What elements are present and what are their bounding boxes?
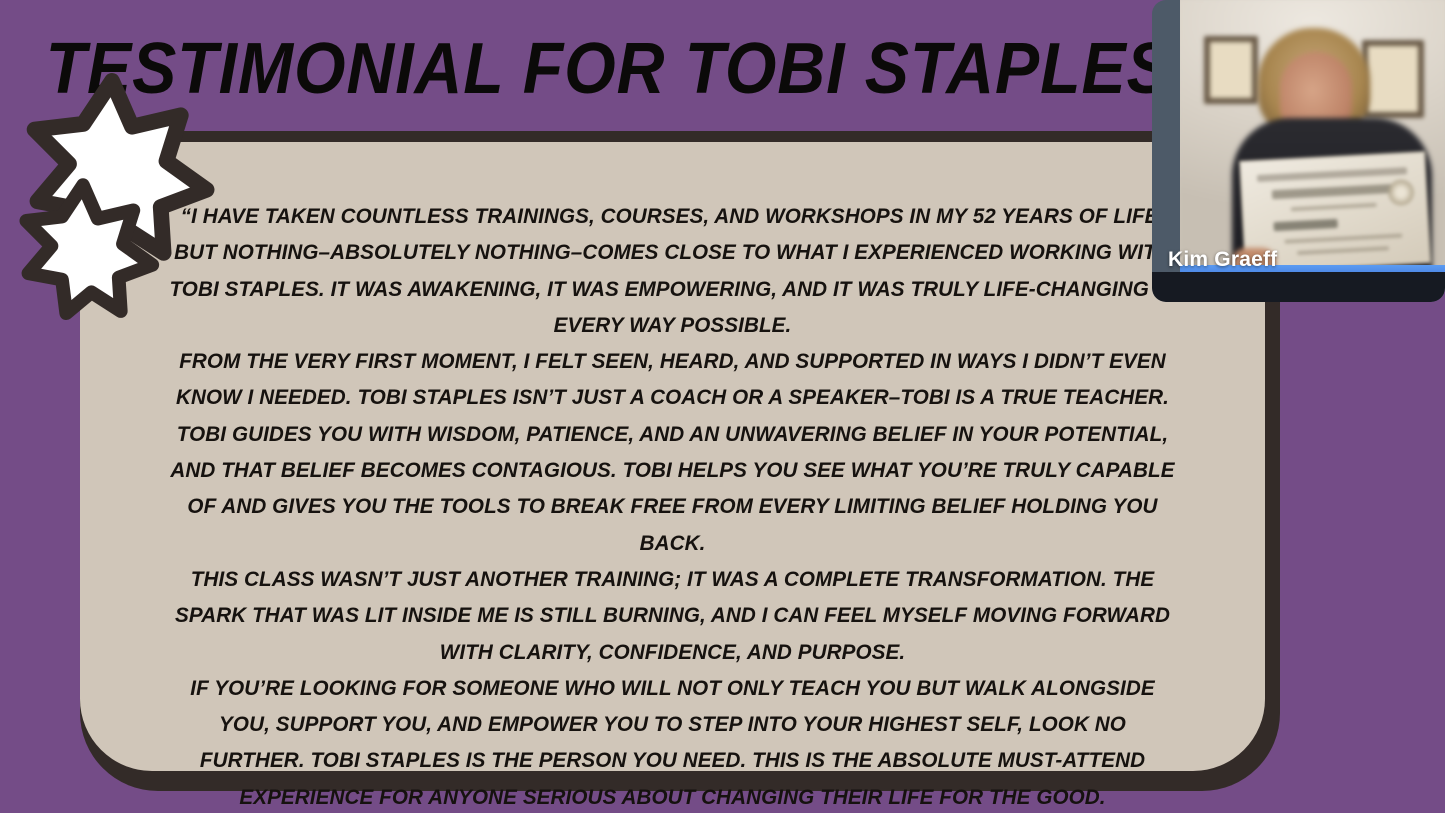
video-feed [1180,0,1445,272]
testimonial-card: “I HAVE TAKEN COUNTLESS TRAININGS, COURS… [80,131,1265,771]
star-small-icon [20,182,146,310]
testimonial-paragraph: FROM THE VERY FIRST MOMENT, I FELT SEEN,… [167,343,1178,561]
testimonial-paragraph: “I HAVE TAKEN COUNTLESS TRAININGS, COURS… [167,198,1178,343]
certificate-signature-line [1273,219,1337,231]
wall-frame-left-icon [1204,36,1258,104]
participant-name-label: Kim Graeff [1168,248,1277,272]
page-title: TESTIMONIAL FOR TOBI STAPLES [46,32,1095,108]
certificate-seal-icon [1387,179,1414,206]
testimonial-text: “I HAVE TAKEN COUNTLESS TRAININGS, COURS… [167,198,1178,813]
video-bottom-band [1152,272,1445,302]
certificate-body-line [1291,203,1377,211]
video-call-panel[interactable]: Kim Graeff [1152,0,1445,302]
testimonial-paragraph: THIS CLASS WASN’T JUST ANOTHER TRAINING;… [167,561,1178,670]
certificate-heading-line [1257,167,1407,182]
certificate-body-line [1297,246,1389,255]
certificate-body-line [1284,234,1402,244]
testimonial-paragraph: IF YOU’RE LOOKING FOR SOMEONE WHO WILL N… [167,670,1178,813]
certificate-subheading-line [1272,184,1392,199]
wall-frame-right-icon [1362,40,1424,118]
slide-canvas: TESTIMONIAL FOR TOBI STAPLES “I HAVE TAK… [0,0,1445,813]
